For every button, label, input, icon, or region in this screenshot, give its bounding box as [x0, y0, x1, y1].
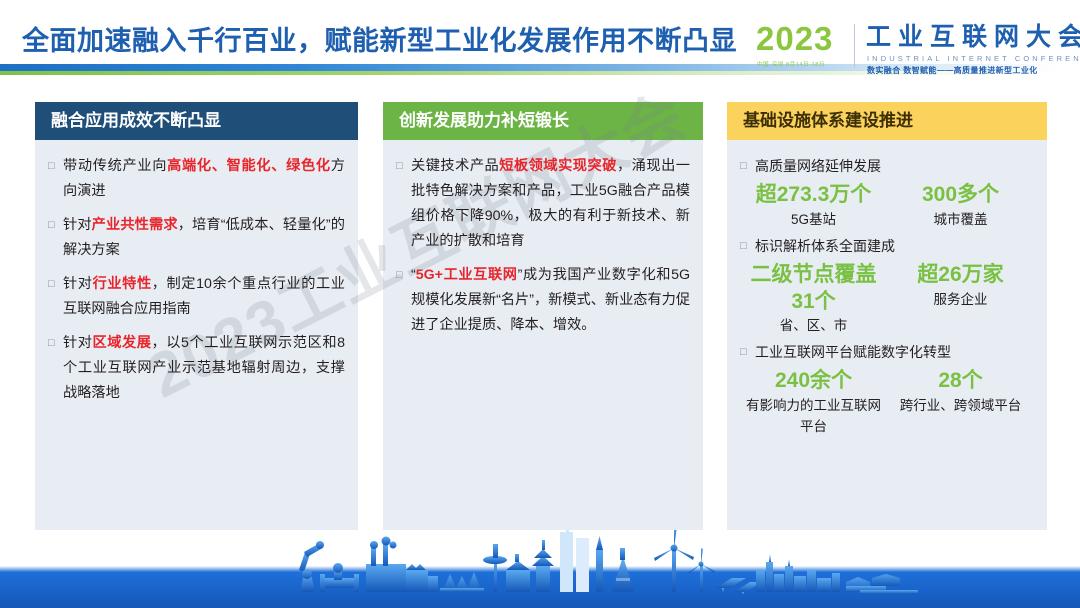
bullet-item: □关键技术产品短板领域实现突破，涌现出一批特色解决方案和产品，工业5G融合产品模… [396, 154, 690, 254]
stat-block: 28个跨行业、跨领域平台 [887, 367, 1034, 437]
bullet-square-icon: □ [740, 154, 755, 179]
bullet-square-icon: □ [48, 272, 63, 322]
logo-name-cn: 工业互联网大会 [866, 22, 1080, 52]
card-3-title: 基础设施体系建设推进 [727, 102, 1047, 140]
slide-header: 全面加速融入千行百业，赋能新型工业化发展作用不断凸显 2023 中国·深圳 8月… [0, 0, 1080, 96]
bullet-text: 工业互联网平台赋能数字化转型 [755, 340, 1034, 365]
card-fusion-application: 融合应用成效不断凸显 □带动传统产业向高端化、智能化、绿色化方向演进□针对产业共… [35, 102, 358, 530]
highlight-text: 短板领域实现突破 [499, 158, 617, 174]
bullet-text: 标识解析体系全面建成 [755, 234, 1034, 259]
card-1-title: 融合应用成效不断凸显 [35, 102, 358, 140]
bullet-text: 针对行业特性，制定10余个重点行业的工业互联网融合应用指南 [63, 272, 345, 322]
stat-number: 二级节点覆盖 [740, 261, 887, 289]
stat-number-secondary: 31个 [740, 289, 887, 315]
conference-logo: 2023 中国·深圳 8月14日-18日 工业互联网大会 INDUSTRIAL … [754, 20, 1072, 82]
card-3-body: □高质量网络延伸发展超273.3万个5G基站300多个城市覆盖□标识解析体系全面… [727, 140, 1047, 437]
card-2-title: 创新发展助力补短锻长 [383, 102, 703, 140]
highlight-text: 高端化、智能化、绿色化 [167, 158, 331, 174]
stat-label: 5G基站 [740, 209, 887, 230]
card-innovation-development: 创新发展助力补短锻长 □关键技术产品短板领域实现突破，涌现出一批特色解决方案和产… [383, 102, 703, 530]
stat-block: 超26万家服务企业 [887, 261, 1034, 336]
industrial-skyline-icon [0, 530, 1080, 594]
bullet-text: 关键技术产品短板领域实现突破，涌现出一批特色解决方案和产品，工业5G融合产品模组… [411, 154, 690, 254]
stat-row: 240余个有影响力的工业互联网平台28个跨行业、跨领域平台 [740, 367, 1034, 437]
body-text: 关键技术产品 [411, 158, 499, 174]
bullet-item: □“5G+工业互联网”成为我国产业数字化和5G规模化发展新“名片”，新模式、新业… [396, 263, 690, 338]
bullet-square-icon: □ [396, 154, 411, 254]
stat-row: 超273.3万个5G基站300多个城市覆盖 [740, 181, 1034, 230]
bullet-item: □针对区域发展，以5个工业互联网示范区和8个工业互联网产业示范基地辐射周边，支撑… [48, 331, 345, 406]
logo-year-subtitle: 中国·深圳 8月14日-18日 [757, 60, 825, 68]
bullet-text: 高质量网络延伸发展 [755, 154, 1034, 179]
bullet-text: “5G+工业互联网”成为我国产业数字化和5G规模化发展新“名片”，新模式、新业态… [411, 263, 690, 338]
bullet-square-icon: □ [740, 340, 755, 365]
bullet-square-icon: □ [48, 213, 63, 263]
stat-number: 超26万家 [887, 261, 1034, 289]
bullet-text: 针对产业共性需求，培育“低成本、轻量化”的解决方案 [63, 213, 345, 263]
bullet-text: 带动传统产业向高端化、智能化、绿色化方向演进 [63, 154, 345, 204]
card-1-body: □带动传统产业向高端化、智能化、绿色化方向演进□针对产业共性需求，培育“低成本、… [35, 140, 358, 406]
bullet-square-icon: □ [48, 331, 63, 406]
stat-number: 超273.3万个 [740, 181, 887, 209]
bullet-item: □高质量网络延伸发展 [740, 154, 1034, 179]
logo-divider [854, 24, 855, 68]
stat-block: 300多个城市覆盖 [887, 181, 1034, 230]
bullet-square-icon: □ [396, 263, 411, 338]
stat-row: 二级节点覆盖31个省、区、市超26万家服务企业 [740, 261, 1034, 336]
stat-block: 超273.3万个5G基站 [740, 181, 887, 230]
bullet-square-icon: □ [740, 234, 755, 259]
highlight-text: 行业特性 [93, 276, 152, 292]
bullet-square-icon: □ [48, 154, 63, 204]
logo-year: 2023 [756, 22, 833, 56]
highlight-text: 区域发展 [93, 335, 152, 351]
stat-block: 240余个有影响力的工业互联网平台 [740, 367, 887, 437]
bullet-item: □工业互联网平台赋能数字化转型 [740, 340, 1034, 365]
bullet-item: □针对行业特性，制定10余个重点行业的工业互联网融合应用指南 [48, 272, 345, 322]
page-title: 全面加速融入千行百业，赋能新型工业化发展作用不断凸显 [22, 19, 737, 58]
bullet-text: 针对区域发展，以5个工业互联网示范区和8个工业互联网产业示范基地辐射周边，支撑战… [63, 331, 345, 406]
bullet-item: □针对产业共性需求，培育“低成本、轻量化”的解决方案 [48, 213, 345, 263]
body-text: 针对 [63, 276, 93, 292]
stat-label: 省、区、市 [740, 315, 887, 336]
body-text: 针对 [63, 335, 93, 351]
card-2-body: □关键技术产品短板领域实现突破，涌现出一批特色解决方案和产品，工业5G融合产品模… [383, 140, 703, 338]
logo-slogan: 数实融合 数智赋能——高质量推进新型工业化 [867, 65, 1038, 76]
body-text: 针对 [63, 217, 92, 233]
stat-block: 二级节点覆盖31个省、区、市 [740, 261, 887, 336]
stat-number: 240余个 [740, 367, 887, 395]
card-infrastructure-construction: 基础设施体系建设推进 □高质量网络延伸发展超273.3万个5G基站300多个城市… [727, 102, 1047, 530]
bullet-item: □带动传统产业向高端化、智能化、绿色化方向演进 [48, 154, 345, 204]
body-text: 带动传统产业向 [63, 158, 167, 174]
logo-name-en: INDUSTRIAL INTERNET CONFERENCE [867, 54, 1080, 63]
stat-label: 跨行业、跨领域平台 [887, 395, 1034, 416]
stat-number: 28个 [887, 367, 1034, 395]
slide-footer [0, 530, 1080, 608]
stat-label: 服务企业 [887, 289, 1034, 310]
highlight-text: 5G+工业互联网 [416, 267, 518, 283]
stat-label: 有影响力的工业互联网平台 [740, 395, 887, 437]
highlight-text: 产业共性需求 [92, 217, 178, 233]
stat-label: 城市覆盖 [887, 209, 1034, 230]
bullet-item: □标识解析体系全面建成 [740, 234, 1034, 259]
stat-number: 300多个 [887, 181, 1034, 209]
